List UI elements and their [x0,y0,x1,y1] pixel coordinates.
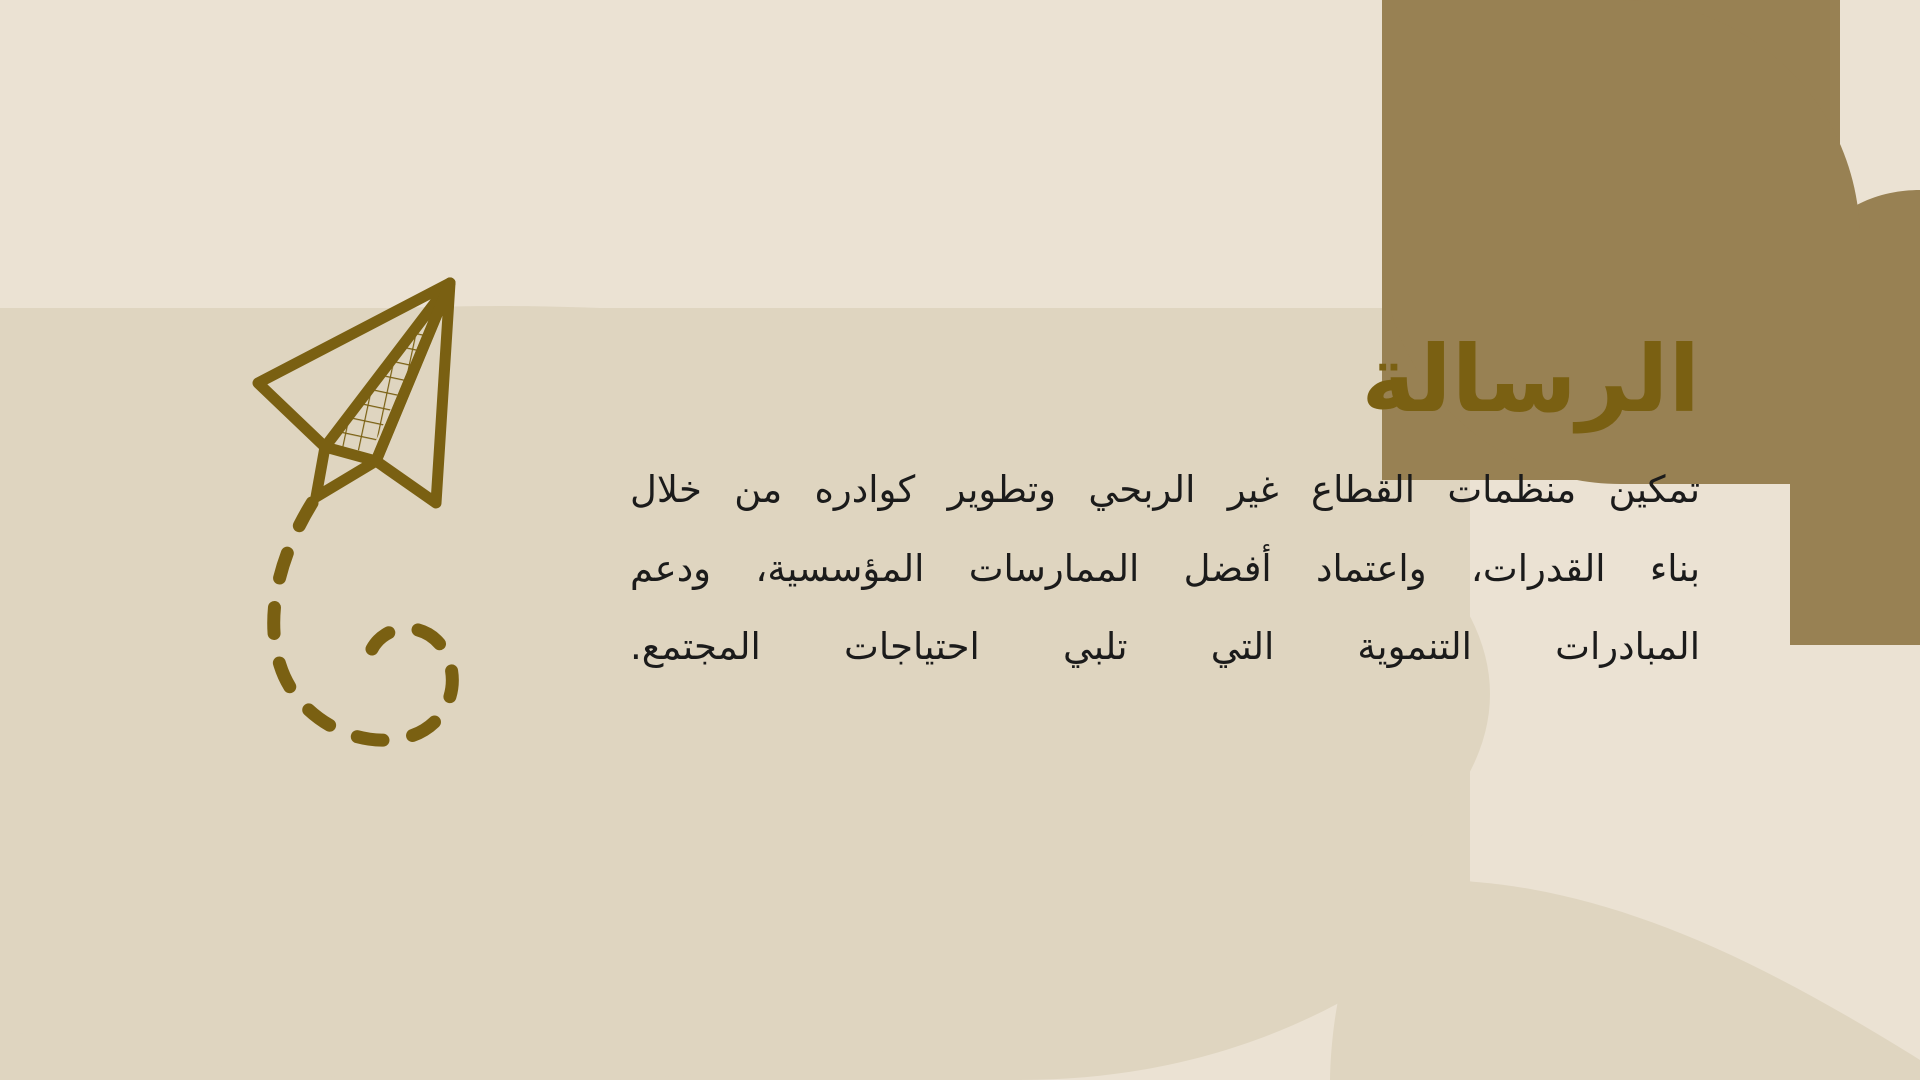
body-paragraph: تمكين منظمات القطاع غير الربحي وتطوير كو… [630,451,1700,686]
body-line: المبادرات التنموية التي تلبي احتياجات ال… [630,608,1700,686]
plane-body [258,283,450,503]
top-right-bar [1790,190,1920,645]
slide-canvas: الرسالة تمكين منظمات القطاع غير الربحي و… [0,0,1920,1080]
bottom-right-blob [1330,880,1920,1080]
body-line: بناء القدرات، واعتماد أفضل الممارسات الم… [630,530,1700,608]
page-title: الرسالة [630,330,1700,429]
text-block: الرسالة تمكين منظمات القطاع غير الربحي و… [630,330,1700,687]
body-line: تمكين منظمات القطاع غير الربحي وتطوير كو… [630,451,1700,529]
paper-plane-illustration [250,265,580,795]
dashed-trail [274,503,453,740]
